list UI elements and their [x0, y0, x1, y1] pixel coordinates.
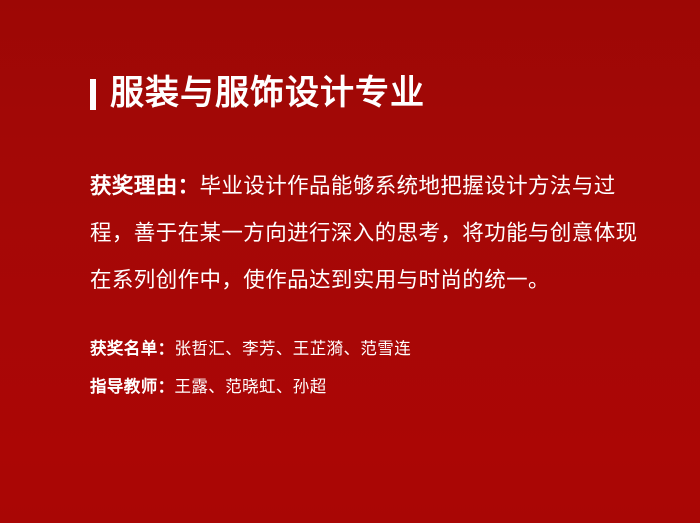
winners-label: 获奖名单：: [90, 339, 175, 358]
advisors-line: 指导教师：王露、范晓虹、孙超: [90, 379, 630, 396]
page-title: 服装与服饰设计专业: [90, 76, 425, 110]
award-reason-block: 获奖理由：毕业设计作品能够系统地把握设计方法与过程，善于在某一方向进行深入的思考…: [90, 163, 650, 304]
winners-line: 获奖名单：张哲汇、李芳、王芷漪、范雪连: [90, 341, 630, 358]
award-reason-paragraph: 获奖理由：毕业设计作品能够系统地把握设计方法与过程，善于在某一方向进行深入的思考…: [90, 163, 650, 304]
credits-block: 获奖名单：张哲汇、李芳、王芷漪、范雪连 指导教师：王露、范晓虹、孙超: [90, 341, 630, 395]
title-accent-bar-icon: [90, 79, 96, 110]
title-text: 服装与服饰设计专业: [110, 76, 425, 110]
winners-names: 张哲汇、李芳、王芷漪、范雪连: [175, 339, 412, 358]
advisors-names: 王露、范晓虹、孙超: [175, 377, 327, 396]
award-reason-label: 获奖理由：: [90, 174, 200, 199]
award-slide: 服装与服饰设计专业 获奖理由：毕业设计作品能够系统地把握设计方法与过程，善于在某…: [0, 0, 700, 523]
advisors-label: 指导教师：: [90, 377, 175, 396]
